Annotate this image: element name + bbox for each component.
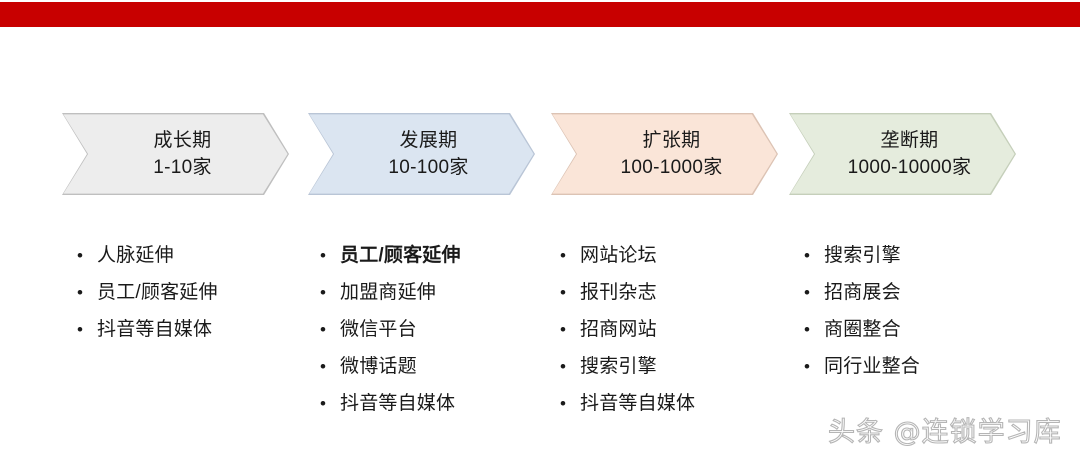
bullet-column-growth: • 人脉延伸 • 员工/顾客延伸 • 抖音等自媒体 [70, 240, 310, 351]
list-item-label: 招商网站 [580, 314, 657, 341]
list-item: • 加盟商延伸 [313, 277, 553, 314]
list-item: • 搜索引擎 [553, 351, 793, 388]
list-item: • 员工/顾客延伸 [70, 277, 310, 314]
list-item: • 搜索引擎 [797, 240, 1037, 277]
list-item: • 招商展会 [797, 277, 1037, 314]
bullet-dot-icon: • [797, 358, 824, 375]
list-item-label: 搜索引擎 [580, 351, 657, 378]
list-item-label: 加盟商延伸 [340, 277, 436, 304]
list-item-label: 抖音等自媒体 [340, 388, 455, 415]
bullet-dot-icon: • [313, 284, 340, 301]
bullet-dot-icon: • [70, 247, 97, 264]
list-item-label: 员工/顾客延伸 [340, 240, 461, 267]
bullet-dot-icon: • [70, 321, 97, 338]
bullet-dot-icon: • [70, 284, 97, 301]
list-item: • 网站论坛 [553, 240, 793, 277]
bullet-dot-icon: • [553, 358, 580, 375]
stage-range: 10-100家 [388, 154, 468, 181]
list-item-label: 员工/顾客延伸 [97, 277, 218, 304]
list-item-label: 搜索引擎 [824, 240, 901, 267]
stage-chevron-development[interactable]: 发展期 10-100家 [308, 113, 535, 195]
list-item: • 抖音等自媒体 [553, 388, 793, 425]
list-item-label: 微博话题 [340, 351, 417, 378]
slide-canvas: 成长期 1-10家 发展期 10-100家 扩张期 100-1000家 垄断期 … [0, 0, 1080, 463]
top-accent-bar [0, 2, 1080, 27]
list-item-label: 招商展会 [824, 277, 901, 304]
stage-range: 1-10家 [153, 154, 212, 181]
bullet-column-expansion: • 网站论坛 • 报刊杂志 • 招商网站 • 搜索引擎 • 抖音等自媒体 [553, 240, 793, 425]
stage-chevron-label: 扩张期 100-1000家 [607, 127, 723, 181]
bullet-dot-icon: • [553, 284, 580, 301]
list-item: • 微博话题 [313, 351, 553, 388]
stage-chevron-label: 垄断期 1000-10000家 [834, 127, 972, 181]
bullet-dot-icon: • [797, 321, 824, 338]
stage-range: 1000-10000家 [848, 154, 972, 181]
bullet-columns: • 人脉延伸 • 员工/顾客延伸 • 抖音等自媒体 • 员工/顾客延伸 • 加盟… [0, 240, 1080, 440]
bullet-dot-icon: • [553, 247, 580, 264]
list-item: • 人脉延伸 [70, 240, 310, 277]
bullet-dot-icon: • [797, 284, 824, 301]
bullet-dot-icon: • [313, 247, 340, 264]
bullet-dot-icon: • [553, 321, 580, 338]
list-item: • 招商网站 [553, 314, 793, 351]
watermark-text: 头条 @连锁学习库 [828, 416, 1062, 450]
list-item: • 微信平台 [313, 314, 553, 351]
list-item-label: 商圈整合 [824, 314, 901, 341]
bullet-column-development: • 员工/顾客延伸 • 加盟商延伸 • 微信平台 • 微博话题 • 抖音等自媒体 [313, 240, 553, 425]
list-item-label: 人脉延伸 [97, 240, 174, 267]
stage-chevron-label: 发展期 10-100家 [374, 127, 468, 181]
bullet-dot-icon: • [313, 321, 340, 338]
stage-title: 成长期 [153, 127, 212, 154]
list-item: • 同行业整合 [797, 351, 1037, 388]
list-item-label: 同行业整合 [824, 351, 920, 378]
bullet-dot-icon: • [797, 247, 824, 264]
bullet-dot-icon: • [553, 395, 580, 412]
list-item: • 报刊杂志 [553, 277, 793, 314]
bullet-dot-icon: • [313, 395, 340, 412]
stage-chevron-label: 成长期 1-10家 [139, 127, 212, 181]
list-item: • 抖音等自媒体 [70, 314, 310, 351]
list-item: • 抖音等自媒体 [313, 388, 553, 425]
list-item-label: 微信平台 [340, 314, 417, 341]
stage-title: 垄断期 [848, 127, 972, 154]
stage-chevron-monopoly[interactable]: 垄断期 1000-10000家 [789, 113, 1016, 195]
stage-chevron-expansion[interactable]: 扩张期 100-1000家 [551, 113, 778, 195]
bullet-dot-icon: • [313, 358, 340, 375]
stage-chevron-row: 成长期 1-10家 发展期 10-100家 扩张期 100-1000家 垄断期 … [0, 113, 1080, 195]
bullet-column-monopoly: • 搜索引擎 • 招商展会 • 商圈整合 • 同行业整合 [797, 240, 1037, 388]
list-item-label: 抖音等自媒体 [580, 388, 695, 415]
stage-title: 发展期 [388, 127, 468, 154]
stage-range: 100-1000家 [621, 154, 723, 181]
list-item-label: 抖音等自媒体 [97, 314, 212, 341]
list-item: • 商圈整合 [797, 314, 1037, 351]
stage-chevron-growth[interactable]: 成长期 1-10家 [62, 113, 289, 195]
list-item-label: 报刊杂志 [580, 277, 657, 304]
list-item: • 员工/顾客延伸 [313, 240, 553, 277]
list-item-label: 网站论坛 [580, 240, 657, 267]
stage-title: 扩张期 [621, 127, 723, 154]
